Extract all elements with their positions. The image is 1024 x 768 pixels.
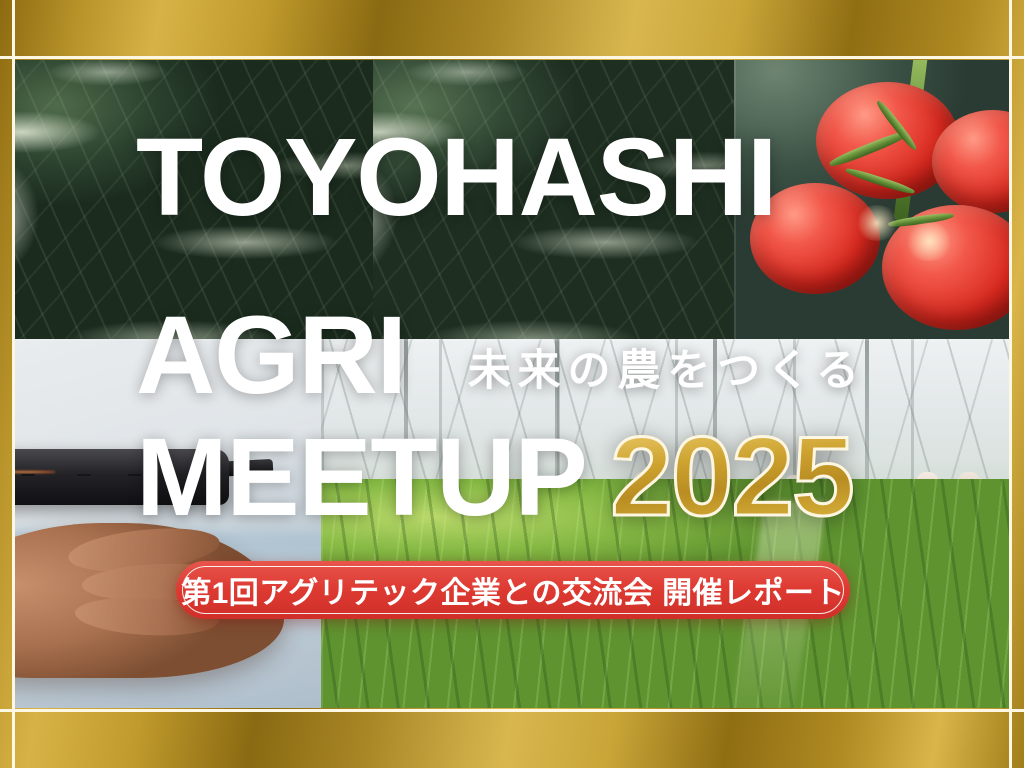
report-badge-label: 第1回アグリテック企業との交流会 開催レポート (181, 568, 845, 612)
tagline-text: 未来の農をつくる (468, 336, 866, 398)
headline-row-agri: AGRI 未来の農をつくる (136, 276, 966, 410)
banner-content: TOYOHASHI AGRI 未来の農をつくる MEETUP 2025 第1回ア… (0, 0, 1024, 768)
headline-line-toyohashi: TOYOHASHI (136, 124, 976, 232)
event-year: 2025 (610, 412, 852, 541)
headline-row-meetup: MEETUP 2025 (136, 412, 853, 541)
event-banner: TOYOHASHI AGRI 未来の農をつくる MEETUP 2025 第1回ア… (0, 0, 1024, 768)
headline-line-meetup: MEETUP (136, 424, 586, 532)
headline-block: TOYOHASHI (136, 124, 976, 232)
report-badge: 第1回アグリテック企業との交流会 開催レポート (176, 561, 850, 619)
headline-line-agri: AGRI (136, 302, 406, 410)
